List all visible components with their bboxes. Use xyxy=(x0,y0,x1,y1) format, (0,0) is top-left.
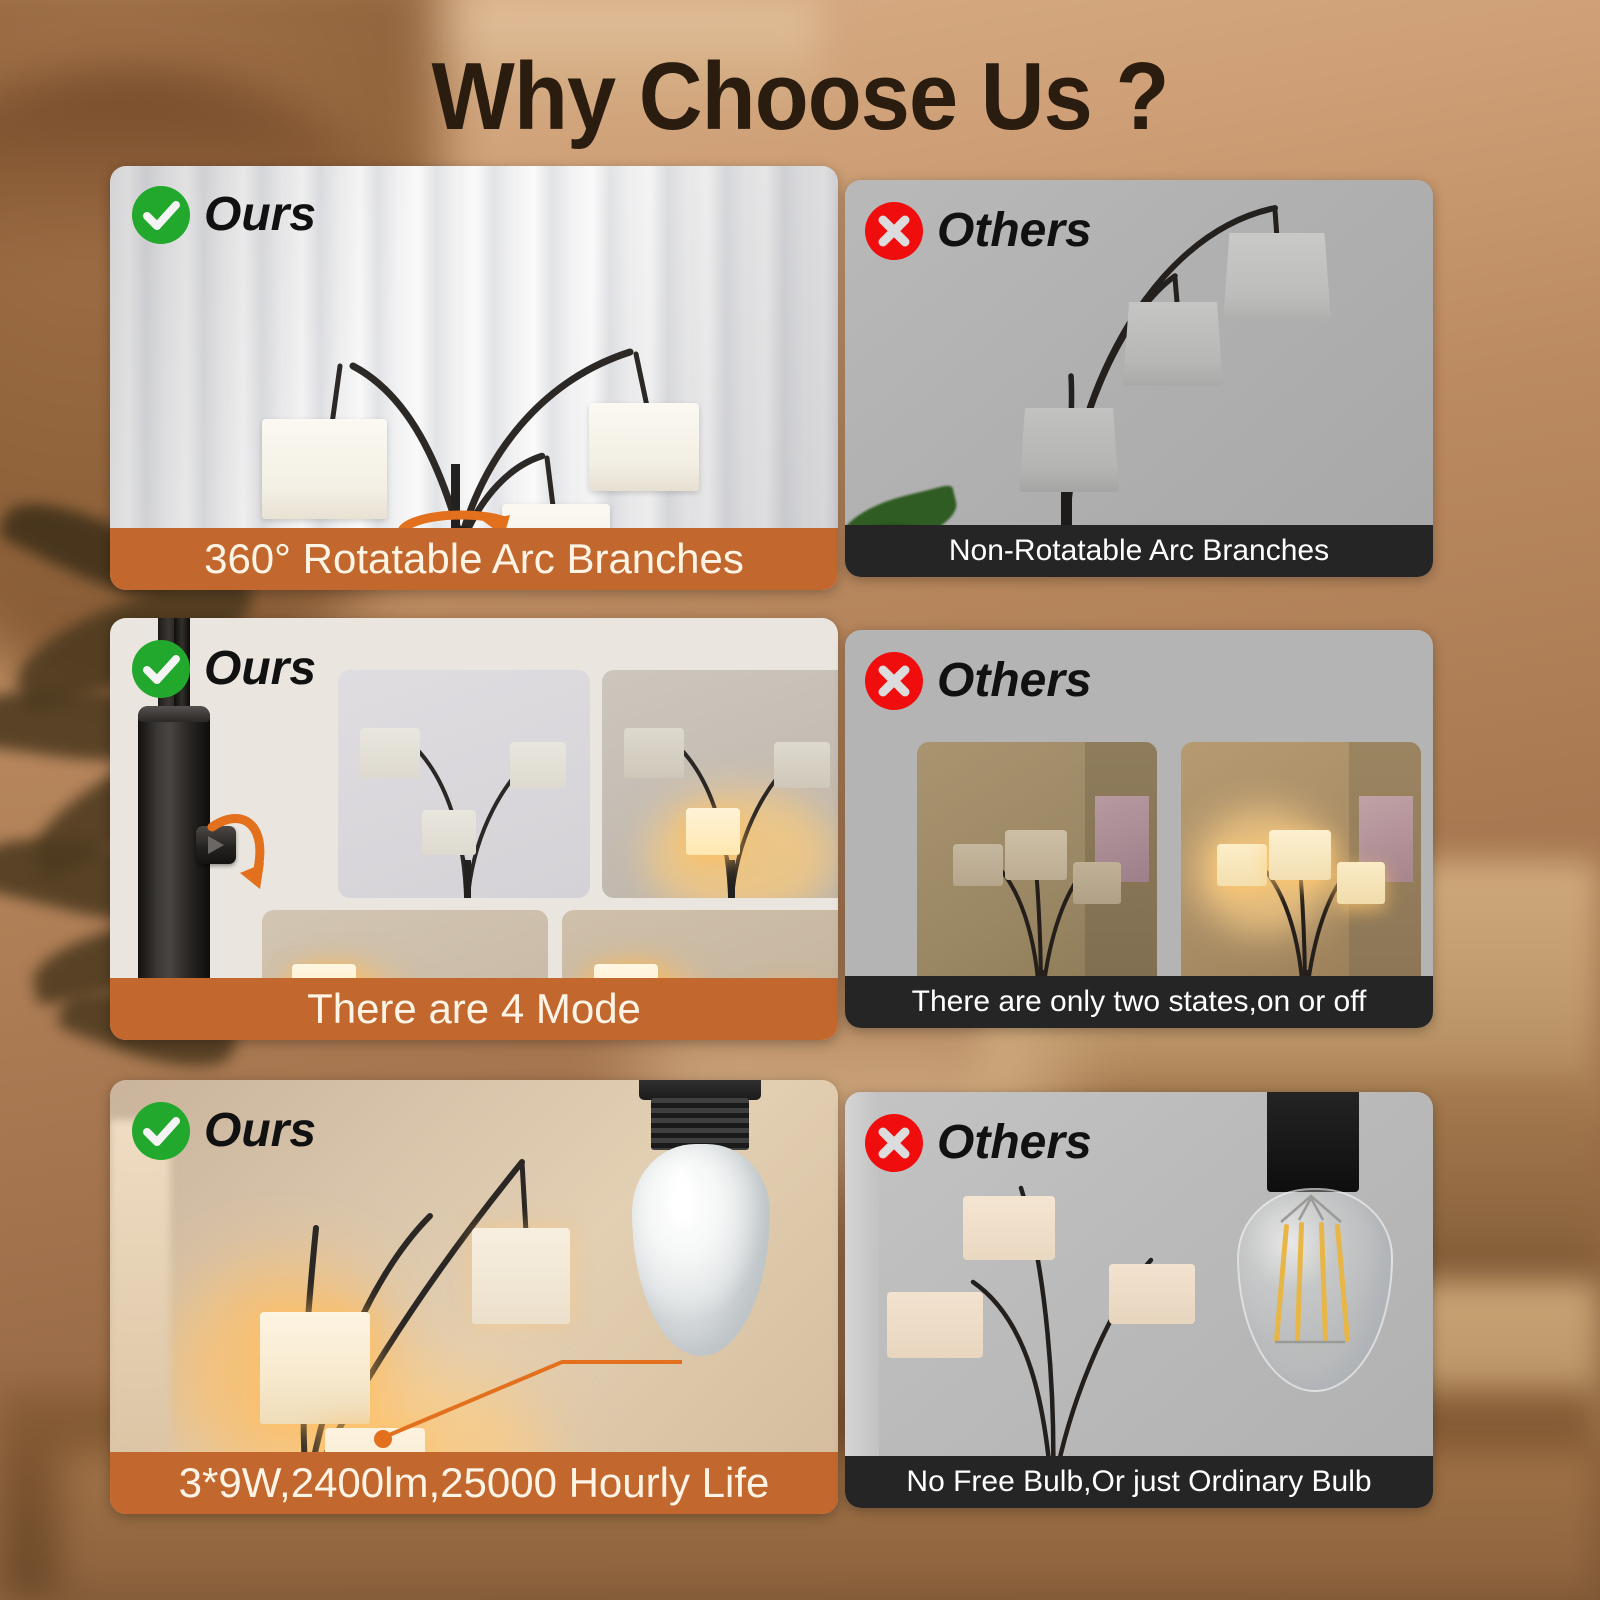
badge-others: Others xyxy=(865,1114,1092,1172)
x-circle-icon xyxy=(865,1114,923,1172)
badge-label: Others xyxy=(937,1119,1092,1167)
infographic-canvas: Why Choose Us ? xyxy=(0,0,1600,1600)
state-thumbnail-off xyxy=(917,742,1157,1010)
lamp-shade xyxy=(1019,408,1119,492)
badge-label: Others xyxy=(937,657,1092,705)
comparison-card-others-bulb: Others No Free Bulb,Or just Ordinary Bul… xyxy=(845,1092,1433,1508)
x-circle-icon xyxy=(865,202,923,260)
lamp-shade xyxy=(1223,233,1331,322)
badge-ours: Ours xyxy=(132,186,316,244)
badge-label: Ours xyxy=(204,645,316,693)
lamp-shade xyxy=(1123,302,1223,386)
card-caption: 360° Rotatable Arc Branches xyxy=(110,528,838,590)
badge-others: Others xyxy=(865,202,1092,260)
callout-dot xyxy=(374,1430,392,1448)
x-circle-icon xyxy=(865,652,923,710)
card-caption: Non-Rotatable Arc Branches xyxy=(845,525,1433,577)
comparison-card-ours-modes: Ours There are 4 Mode xyxy=(110,618,838,1040)
comparison-card-others-modes: Others There are only two states,on or o… xyxy=(845,630,1433,1028)
comparison-grid: Ours 360° Rotatable Arc Branches xyxy=(0,0,1600,1600)
mode-thumbnail xyxy=(338,670,590,898)
comparison-card-others-rotation: Others Non-Rotatable Arc Branches xyxy=(845,180,1433,577)
badge-ours: Ours xyxy=(132,640,316,698)
card-caption: No Free Bulb,Or just Ordinary Bulb xyxy=(845,1456,1433,1508)
lamp-pole-collar xyxy=(138,706,210,722)
check-circle-icon xyxy=(132,640,190,698)
card-caption: 3*9W,2400lm,25000 Hourly Life xyxy=(110,1452,838,1514)
comparison-card-ours-bulb: Ours 3*9W,2400lm,25000 Hourly Life xyxy=(110,1080,838,1514)
check-circle-icon xyxy=(132,186,190,244)
check-circle-icon xyxy=(132,1102,190,1160)
badge-label: Ours xyxy=(204,191,316,239)
badge-ours: Ours xyxy=(132,1102,316,1160)
card-caption: There are 4 Mode xyxy=(110,978,838,1040)
badge-label: Others xyxy=(937,207,1092,255)
badge-others: Others xyxy=(865,652,1092,710)
comparison-card-ours-rotation: Ours 360° Rotatable Arc Branches xyxy=(110,166,838,590)
mode-thumbnail xyxy=(602,670,838,898)
badge-label: Ours xyxy=(204,1107,316,1155)
state-thumbnail-on xyxy=(1181,742,1421,1010)
card-caption: There are only two states,on or off xyxy=(845,976,1433,1028)
